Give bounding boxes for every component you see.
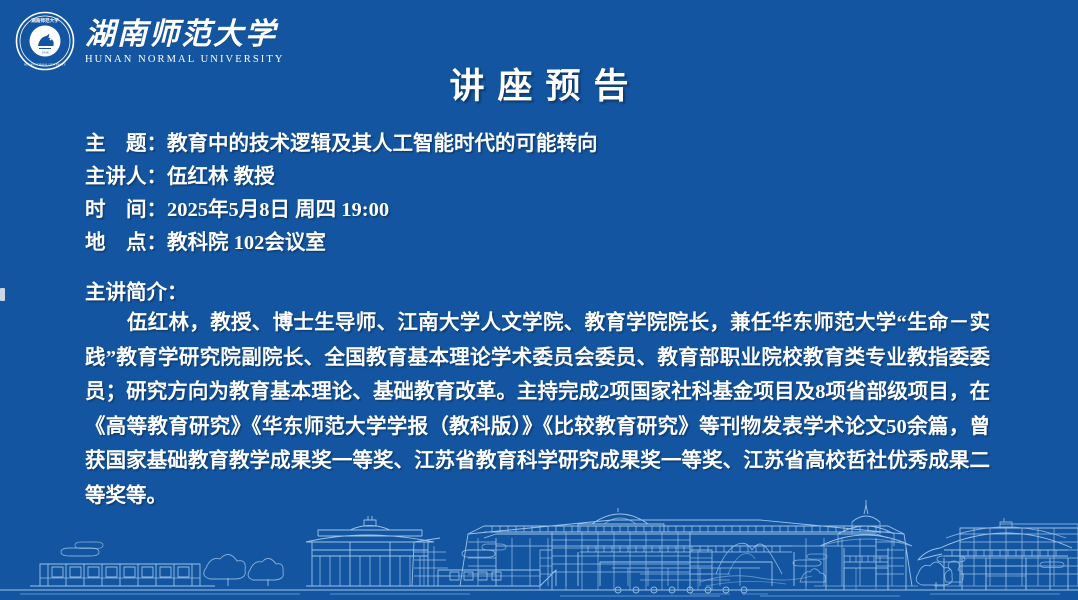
left-edge-artifact [0, 288, 5, 301]
lecture-info-block: 主 题：教育中的技术逻辑及其人工智能时代的可能转向 主讲人：伍红林 教授 时 间… [85, 128, 1025, 260]
bio-paragraph: 伍红林，教授、博士生导师、江南大学人文学院、教育学院院长，兼任华东师范大学“生命… [85, 306, 990, 513]
info-value-time: 2025年5月8日 周四 19:00 [167, 194, 389, 227]
info-label-time: 时 间： [85, 194, 167, 227]
info-value-topic: 教育中的技术逻辑及其人工智能时代的可能转向 [167, 128, 598, 161]
info-label-location: 地 点： [85, 227, 167, 260]
info-label-speaker: 主讲人： [85, 161, 167, 194]
info-row-location: 地 点：教科院 102会议室 [85, 227, 1025, 260]
bio-heading: 主讲简介： [85, 275, 188, 305]
info-row-time: 时 间：2025年5月8日 周四 19:00 [85, 194, 1025, 227]
info-row-topic: 主 题：教育中的技术逻辑及其人工智能时代的可能转向 [85, 128, 1025, 161]
svg-text:1938: 1938 [42, 51, 49, 55]
info-row-speaker: 主讲人：伍红林 教授 [85, 161, 1025, 194]
university-name-cn: 湖南师范大学 [85, 19, 285, 51]
page-title: 讲座预告 [0, 58, 1078, 109]
info-value-speaker: 伍红林 教授 [167, 161, 275, 194]
info-label-topic: 主 题： [85, 128, 167, 161]
info-value-location: 教科院 102会议室 [167, 227, 326, 260]
lecture-announcement-poster: 1938 湖南师范大学 HUNAN NORMAL UNIVERSITY 湖南师范… [0, 0, 1078, 600]
svg-text:湖南师范大学: 湖南师范大学 [31, 17, 59, 24]
campus-skyline-illustration [0, 490, 1078, 600]
